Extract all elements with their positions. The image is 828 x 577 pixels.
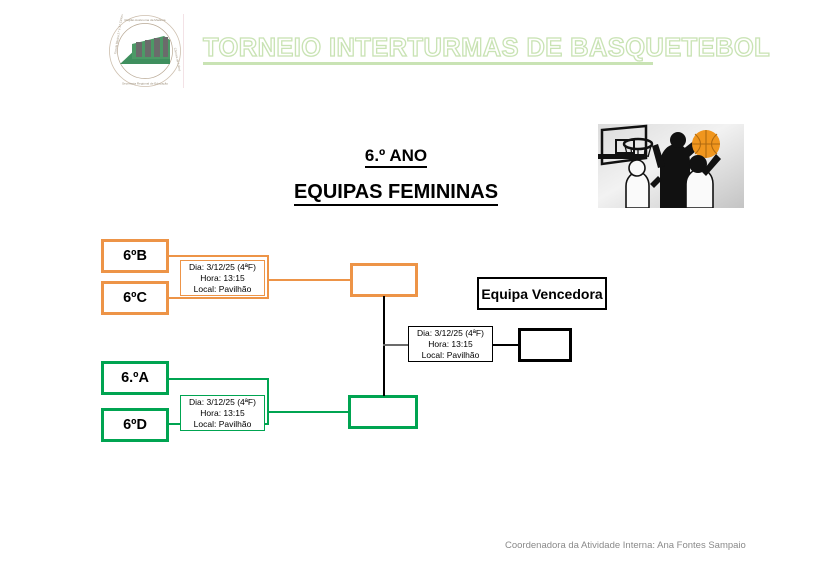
bracket-team-box-2[interactable]: 6ºC xyxy=(101,281,169,315)
page-header: Região Autónoma da Madeira Secretaria Re… xyxy=(0,0,828,100)
match-2-time: Hora: 13:15 xyxy=(181,408,264,419)
match-1-date: Dia: 3/12/25 (4ªF) xyxy=(181,262,264,273)
school-crest-icon: Região Autónoma da Madeira Secretaria Re… xyxy=(108,14,182,88)
match-3-time: Hora: 13:15 xyxy=(409,339,492,350)
header-divider xyxy=(183,14,184,88)
match-2-venue: Local: Pavilhão xyxy=(181,419,264,430)
match-info-box-2: Dia: 3/12/25 (4ªF) Hora: 13:15 Local: Pa… xyxy=(180,395,265,431)
bracket-team-box-1[interactable]: 6ºB xyxy=(101,239,169,273)
bracket-line-upper-a xyxy=(169,255,269,257)
bracket-line-final-out xyxy=(492,344,519,346)
bracket-team-box-4[interactable]: 6ºD xyxy=(101,408,169,442)
svg-text:Secretaria Regional de Educaçã: Secretaria Regional de Educação xyxy=(122,82,168,86)
title-underline xyxy=(203,62,653,65)
bracket-line-lower-out xyxy=(267,411,350,413)
footer-credit: Coordenadora da Atividade Interna: Ana F… xyxy=(505,540,746,551)
svg-text:Região Autónoma da Madeira: Região Autónoma da Madeira xyxy=(125,18,166,22)
heading-category-wrap: EQUIPAS FEMININAS xyxy=(280,181,512,206)
bracket-line-final-in xyxy=(383,344,409,346)
winner-caption-box: Equipa Vencedora xyxy=(477,277,607,310)
match-3-venue: Local: Pavilhão xyxy=(409,350,492,361)
match-info-box-1: Dia: 3/12/25 (4ªF) Hora: 13:15 Local: Pa… xyxy=(180,260,265,296)
page-title-year: 6.º ANO xyxy=(365,146,427,168)
bracket-semifinal-winner-box-2[interactable] xyxy=(348,395,418,429)
page-title-category: EQUIPAS FEMININAS xyxy=(294,181,498,206)
basketball-players-dunking-photo xyxy=(598,124,744,208)
bracket-line-upper-b xyxy=(169,297,269,299)
bracket-line-final-join xyxy=(383,296,385,396)
bracket-line-lower-join xyxy=(267,378,269,425)
match-3-date: Dia: 3/12/25 (4ªF) xyxy=(409,328,492,339)
bracket-line-upper-join xyxy=(267,255,269,299)
tournament-title: TORNEIO INTERTURMAS DE BASQUETEBOL xyxy=(203,34,770,63)
bracket-line-upper-out xyxy=(267,279,352,281)
match-1-time: Hora: 13:15 xyxy=(181,273,264,284)
match-1-venue: Local: Pavilhão xyxy=(181,284,264,295)
bracket-team-box-3[interactable]: 6.ºA xyxy=(101,361,169,395)
heading-year-wrap: 6.º ANO xyxy=(280,146,512,169)
bracket-final-winner-box[interactable] xyxy=(518,328,572,362)
match-2-date: Dia: 3/12/25 (4ªF) xyxy=(181,397,264,408)
bracket-line-lower-a xyxy=(169,378,269,380)
bracket-semifinal-winner-box-1[interactable] xyxy=(350,263,418,297)
match-info-box-3: Dia: 3/12/25 (4ªF) Hora: 13:15 Local: Pa… xyxy=(408,326,493,362)
